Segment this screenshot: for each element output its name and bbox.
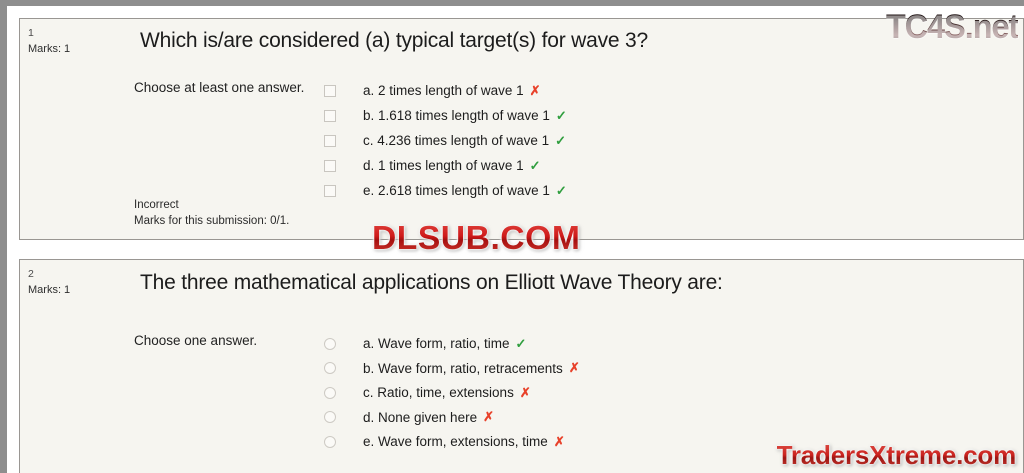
answer-option-e[interactable]: e. 2.618 times length of wave 1 ✓ [324, 178, 1023, 203]
checkbox-option-e[interactable] [324, 185, 336, 197]
question-body-2: Choose one answer. a. Wave form, ratio, … [82, 296, 1023, 454]
answer-option-c[interactable]: c. 4.236 times length of wave 1 ✓ [324, 128, 1023, 153]
answer-label: a. Wave form, ratio, time [363, 336, 510, 351]
answer-option-d[interactable]: d. None given here ✗ [324, 405, 1023, 430]
radio-option-c[interactable] [324, 387, 336, 399]
answer-option-d[interactable]: d. 1 times length of wave 1 ✓ [324, 153, 1023, 178]
incorrect-icon: ✗ [520, 385, 531, 401]
answer-label: a. 2 times length of wave 1 [363, 83, 524, 98]
incorrect-icon: ✗ [530, 83, 541, 99]
answer-option-b[interactable]: b. 1.618 times length of wave 1 ✓ [324, 103, 1023, 128]
watermark-tradersxtreme: TradersXtreme.com [777, 440, 1016, 471]
question-number: 1 [28, 25, 82, 41]
answer-label: e. Wave form, extensions, time [363, 434, 548, 449]
question-box-1: 1 Marks: 1 Which is/are considered (a) t… [19, 18, 1024, 240]
answer-option-a[interactable]: a. Wave form, ratio, time ✓ [324, 331, 1023, 356]
answer-label: c. 4.236 times length of wave 1 [363, 133, 549, 148]
page-frame: 1 Marks: 1 Which is/are considered (a) t… [0, 0, 1024, 473]
radio-option-a[interactable] [324, 338, 336, 350]
feedback-status: Incorrect [134, 197, 289, 214]
question-marks: Marks: 1 [28, 282, 82, 299]
checkbox-option-c[interactable] [324, 135, 336, 147]
answer-label: e. 2.618 times length of wave 1 [363, 183, 550, 198]
answer-option-b[interactable]: b. Wave form, ratio, retracements ✗ [324, 356, 1023, 381]
answer-label: b. 1.618 times length of wave 1 [363, 108, 550, 123]
watermark-dlsub: DLSUB.COM [372, 219, 580, 257]
feedback-marks: Marks for this submission: 0/1. [134, 213, 289, 230]
answer-list-1: a. 2 times length of wave 1 ✗ b. 1.618 t… [316, 78, 1023, 203]
question-body-1: Choose at least one answer. a. 2 times l… [82, 54, 1023, 203]
correct-icon: ✓ [530, 158, 541, 174]
question-marks: Marks: 1 [28, 41, 82, 58]
answer-label: d. 1 times length of wave 1 [363, 158, 524, 173]
question-instruction: Choose at least one answer. [134, 78, 316, 203]
question-title: Which is/are considered (a) typical targ… [82, 19, 1023, 54]
incorrect-icon: ✗ [554, 434, 565, 450]
answer-label: d. None given here [363, 410, 477, 425]
question-number: 2 [28, 266, 82, 282]
question-instruction: Choose one answer. [134, 331, 316, 454]
watermark-tc4s: TC4S.net [886, 8, 1018, 47]
radio-option-d[interactable] [324, 411, 336, 423]
answer-option-c[interactable]: c. Ratio, time, extensions ✗ [324, 380, 1023, 405]
checkbox-option-b[interactable] [324, 110, 336, 122]
question-side-column-1: 1 Marks: 1 [20, 19, 82, 239]
radio-option-b[interactable] [324, 362, 336, 374]
correct-icon: ✓ [555, 133, 566, 149]
question-title: The three mathematical applications on E… [82, 260, 1023, 296]
question-feedback-1: Incorrect Marks for this submission: 0/1… [134, 197, 289, 230]
radio-option-e[interactable] [324, 436, 336, 448]
checkbox-option-d[interactable] [324, 160, 336, 172]
answer-option-a[interactable]: a. 2 times length of wave 1 ✗ [324, 78, 1023, 103]
correct-icon: ✓ [556, 108, 567, 124]
question-main-1: Which is/are considered (a) typical targ… [82, 19, 1023, 239]
correct-icon: ✓ [556, 183, 567, 199]
incorrect-icon: ✗ [569, 360, 580, 376]
answer-label: b. Wave form, ratio, retracements [363, 361, 563, 376]
answer-label: c. Ratio, time, extensions [363, 385, 514, 400]
question-side-column-2: 2 Marks: 1 [20, 260, 82, 473]
correct-icon: ✓ [516, 336, 527, 352]
checkbox-option-a[interactable] [324, 85, 336, 97]
answer-list-2: a. Wave form, ratio, time ✓ b. Wave form… [316, 331, 1023, 454]
incorrect-icon: ✗ [483, 409, 494, 425]
